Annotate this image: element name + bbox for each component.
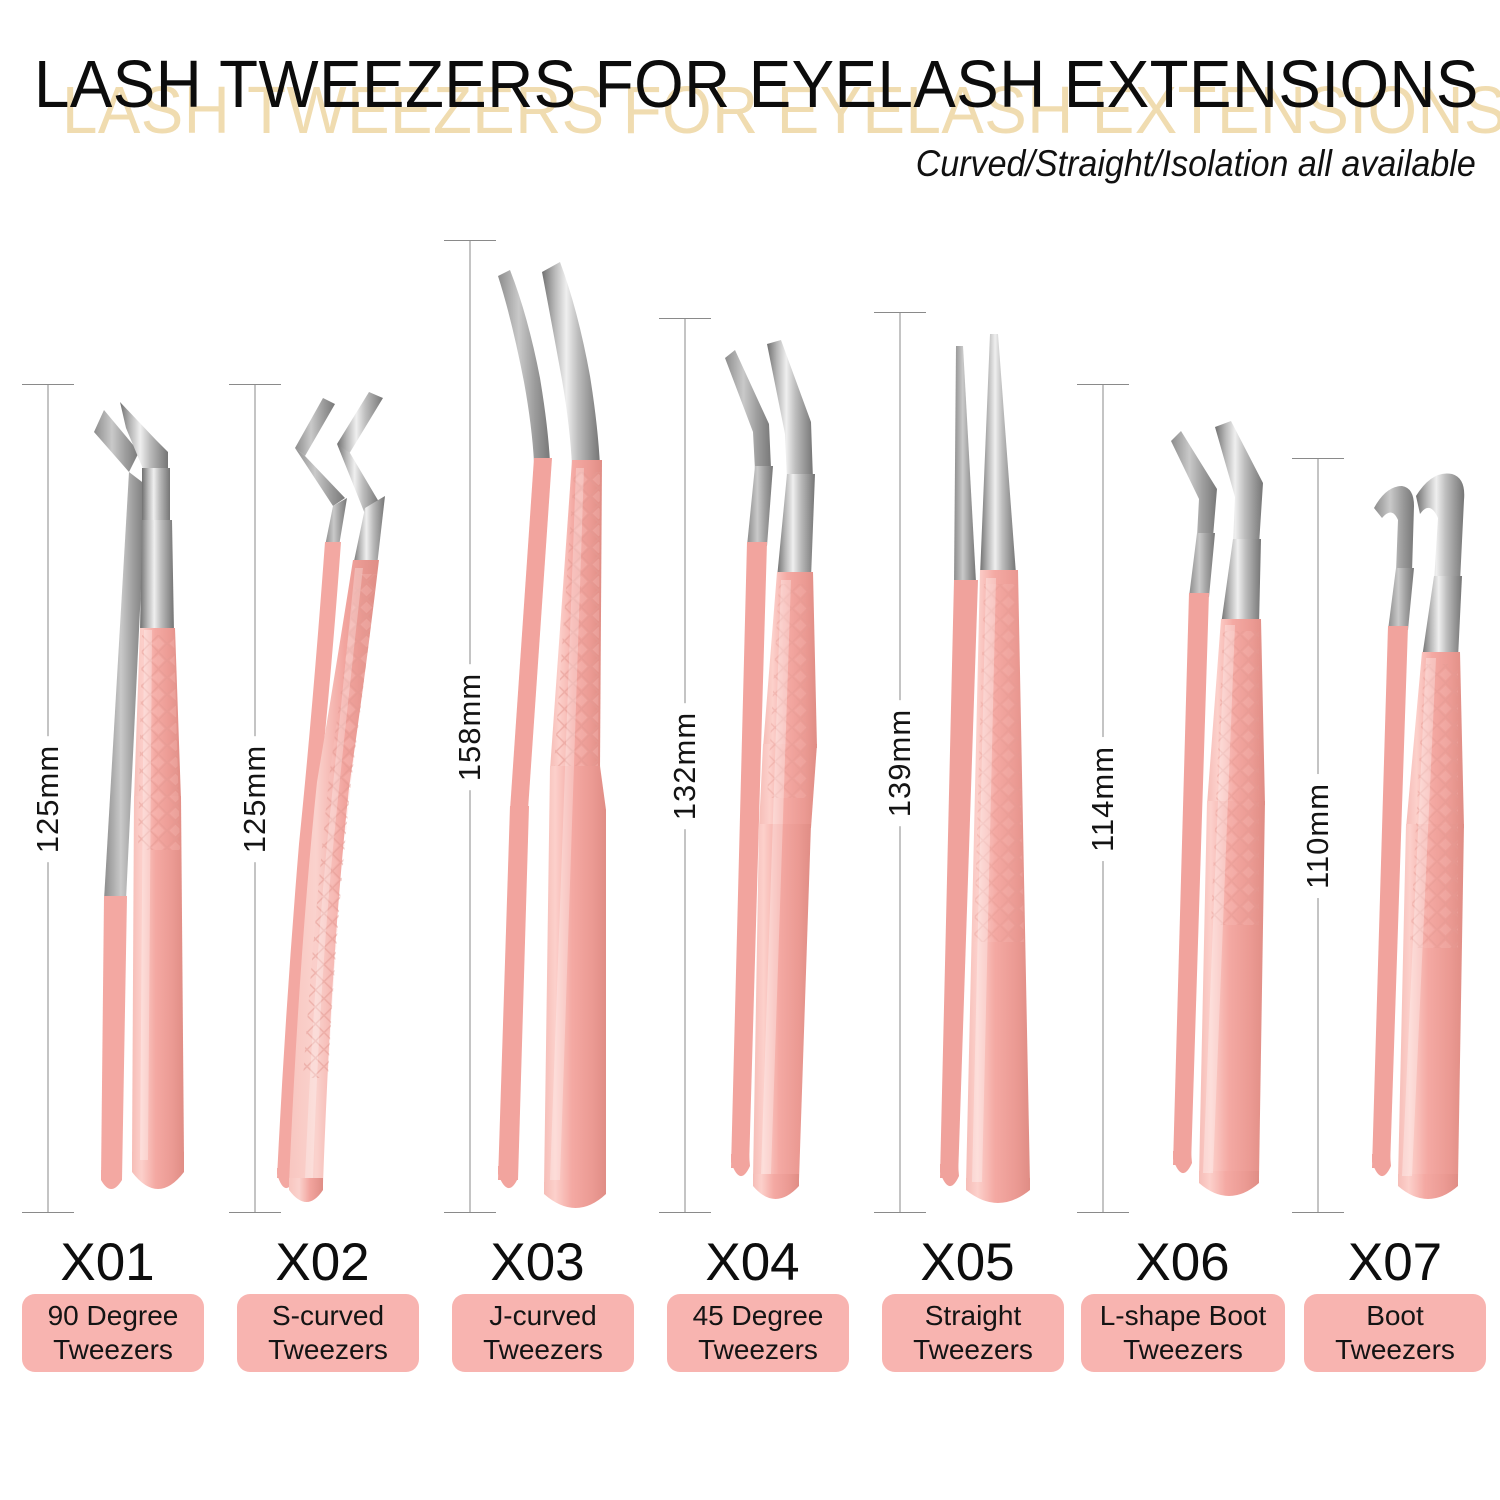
product-code-x02: X02 [215,1236,430,1289]
product-item-x04[interactable]: 132mm X04 [645,0,860,1500]
tweezer-image-x05 [932,322,1062,1217]
product-name-chip-x05[interactable]: Straight Tweezers [882,1294,1064,1372]
product-code-x01: X01 [0,1236,215,1289]
chip-line-2: Tweezers [268,1334,388,1365]
chip-line-1: 90 Degree [48,1300,179,1331]
chip-text: Straight Tweezers [913,1299,1033,1367]
chip-text: S-curved Tweezers [268,1299,388,1367]
chip-line-2: Tweezers [1335,1334,1455,1365]
tweezer-image-x07 [1352,462,1487,1214]
dimension-cap-bottom [1292,1212,1344,1213]
product-item-x03[interactable]: 158mm X03 [430,0,645,1500]
chip-line-2: Tweezers [53,1334,173,1365]
product-code-x05: X05 [860,1236,1075,1289]
product-code-x07: X07 [1290,1236,1500,1289]
dimension-x05: 139mm [872,312,928,1213]
dimension-label: 114mm [1085,736,1121,860]
product-item-x01[interactable]: 125mm X01 [0,0,215,1500]
chip-text: L-shape Boot Tweezers [1100,1299,1267,1367]
chip-line-1: Straight [925,1300,1022,1331]
chip-text: J-curved Tweezers [483,1299,603,1367]
product-name-chip-x01[interactable]: 90 Degree Tweezers [22,1294,204,1372]
product-code-x04: X04 [645,1236,860,1289]
dimension-cap-top [659,318,711,319]
dimension-cap-top [22,384,74,385]
dimension-label: 125mm [30,735,66,861]
product-name-chip-x06[interactable]: L-shape Boot Tweezers [1081,1294,1285,1372]
product-item-x05[interactable]: 139mm X05 Straight T [860,0,1075,1500]
dimension-label: 139mm [882,699,918,825]
dimension-cap-top [444,240,496,241]
tweezer-image-x06 [1155,405,1290,1210]
dimension-label: 158mm [452,663,488,789]
chip-line-1: L-shape Boot [1100,1300,1267,1331]
chip-line-2: Tweezers [483,1334,603,1365]
chip-text: 45 Degree Tweezers [693,1299,824,1367]
dimension-x06: 114mm [1075,384,1131,1213]
tweezer-image-x04 [707,328,847,1218]
product-item-x02[interactable]: 125mm [215,0,430,1500]
dimension-label: 125mm [237,735,273,861]
dimension-x01: 125mm [20,384,76,1213]
product-name-chip-x03[interactable]: J-curved Tweezers [452,1294,634,1372]
dimension-cap-top [874,312,926,313]
dimension-cap-bottom [874,1212,926,1213]
dimension-cap-bottom [1077,1212,1129,1213]
chip-line-1: 45 Degree [693,1300,824,1331]
tweezer-image-x02 [273,378,413,1213]
chip-line-2: Tweezers [913,1334,1033,1365]
tweezer-image-x03 [488,250,633,1220]
chip-line-1: Boot [1366,1300,1424,1331]
product-code-x03: X03 [430,1236,645,1289]
chip-line-1: J-curved [489,1300,596,1331]
chip-text: 90 Degree Tweezers [48,1299,179,1367]
product-item-x07[interactable]: 110mm X07 [1290,0,1500,1500]
dimension-x04: 132mm [657,318,713,1213]
product-item-x06[interactable]: 114mm X06 [1075,0,1290,1500]
dimension-cap-top [1077,384,1129,385]
chip-line-2: Tweezers [1123,1334,1243,1365]
infographic-canvas: LASH TWEEZERS FOR EYELASH EXTENSIONS LAS… [0,0,1500,1500]
dimension-cap-bottom [659,1212,711,1213]
dimension-cap-bottom [22,1212,74,1213]
chip-line-2: Tweezers [698,1334,818,1365]
chip-line-1: S-curved [272,1300,384,1331]
product-name-chip-x02[interactable]: S-curved Tweezers [237,1294,419,1372]
chip-text: Boot Tweezers [1335,1299,1455,1367]
dimension-cap-top [1292,458,1344,459]
dimension-label: 132mm [667,702,703,828]
product-name-chip-x04[interactable]: 45 Degree Tweezers [667,1294,849,1372]
tweezer-image-x01 [82,380,212,1210]
product-name-chip-x07[interactable]: Boot Tweezers [1304,1294,1486,1372]
dimension-x07: 110mm [1290,458,1346,1213]
product-code-x06: X06 [1075,1236,1290,1289]
dimension-label: 110mm [1300,773,1336,897]
